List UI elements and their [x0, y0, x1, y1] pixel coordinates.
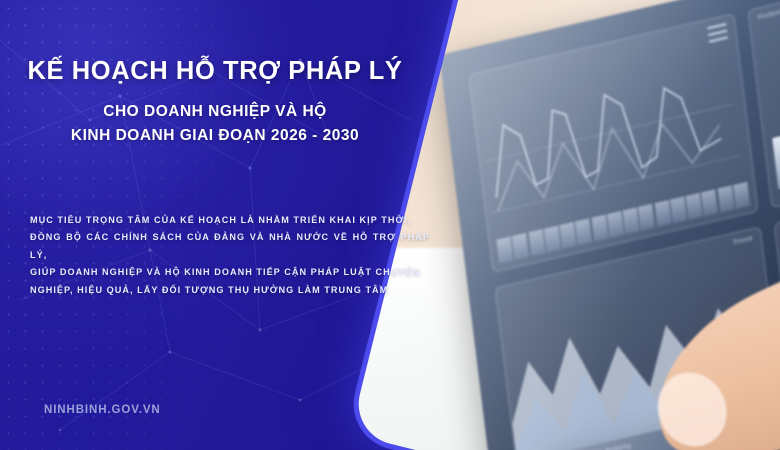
bar-chart-label: Visibility: [757, 7, 780, 22]
body-paragraph: MỤC TIÊU TRỌNG TÂM CỦA KẾ HOẠCH LÀ NHẰM …: [30, 212, 430, 299]
line-chart-panel: [468, 13, 758, 274]
headline-block: KẾ HOẠCH HỖ TRỢ PHÁP LÝ CHO DOANH NGHIỆP…: [0, 56, 430, 147]
body-line-4: NGHIỆP, HIỆU QUẢ, LẤY ĐỐI TƯỢNG THỤ HƯỞN…: [30, 282, 430, 299]
page-subtitle: CHO DOANH NGHIỆP VÀ HỘ KINH DOANH GIAI Đ…: [0, 100, 430, 147]
page-subtitle-line-1: CHO DOANH NGHIỆP VÀ HỘ: [0, 100, 430, 124]
body-line-2: ĐỒNG BỘ CÁC CHÍNH SÁCH CỦA ĐẢNG VÀ NHÀ N…: [30, 229, 430, 264]
page-subtitle-line-2: KINH DOANH GIAI ĐOẠN 2026 - 2030: [0, 124, 430, 148]
body-line-1: MỤC TIÊU TRỌNG TÂM CỦA KẾ HOẠCH LÀ NHẰM …: [30, 212, 430, 229]
banner-root: Visibility Sales Report: [0, 0, 780, 450]
area-chart-label: Trend: [733, 235, 753, 247]
source-url: NINHBINH.GOV.VN: [44, 404, 161, 416]
bar-chart-bars: [763, 23, 780, 190]
page-title: KẾ HOẠCH HỖ TRỢ PHÁP LÝ: [0, 56, 430, 86]
body-line-3: GIÚP DOANH NGHIỆP VÀ HỘ KINH DOANH TIẾP …: [30, 264, 430, 281]
